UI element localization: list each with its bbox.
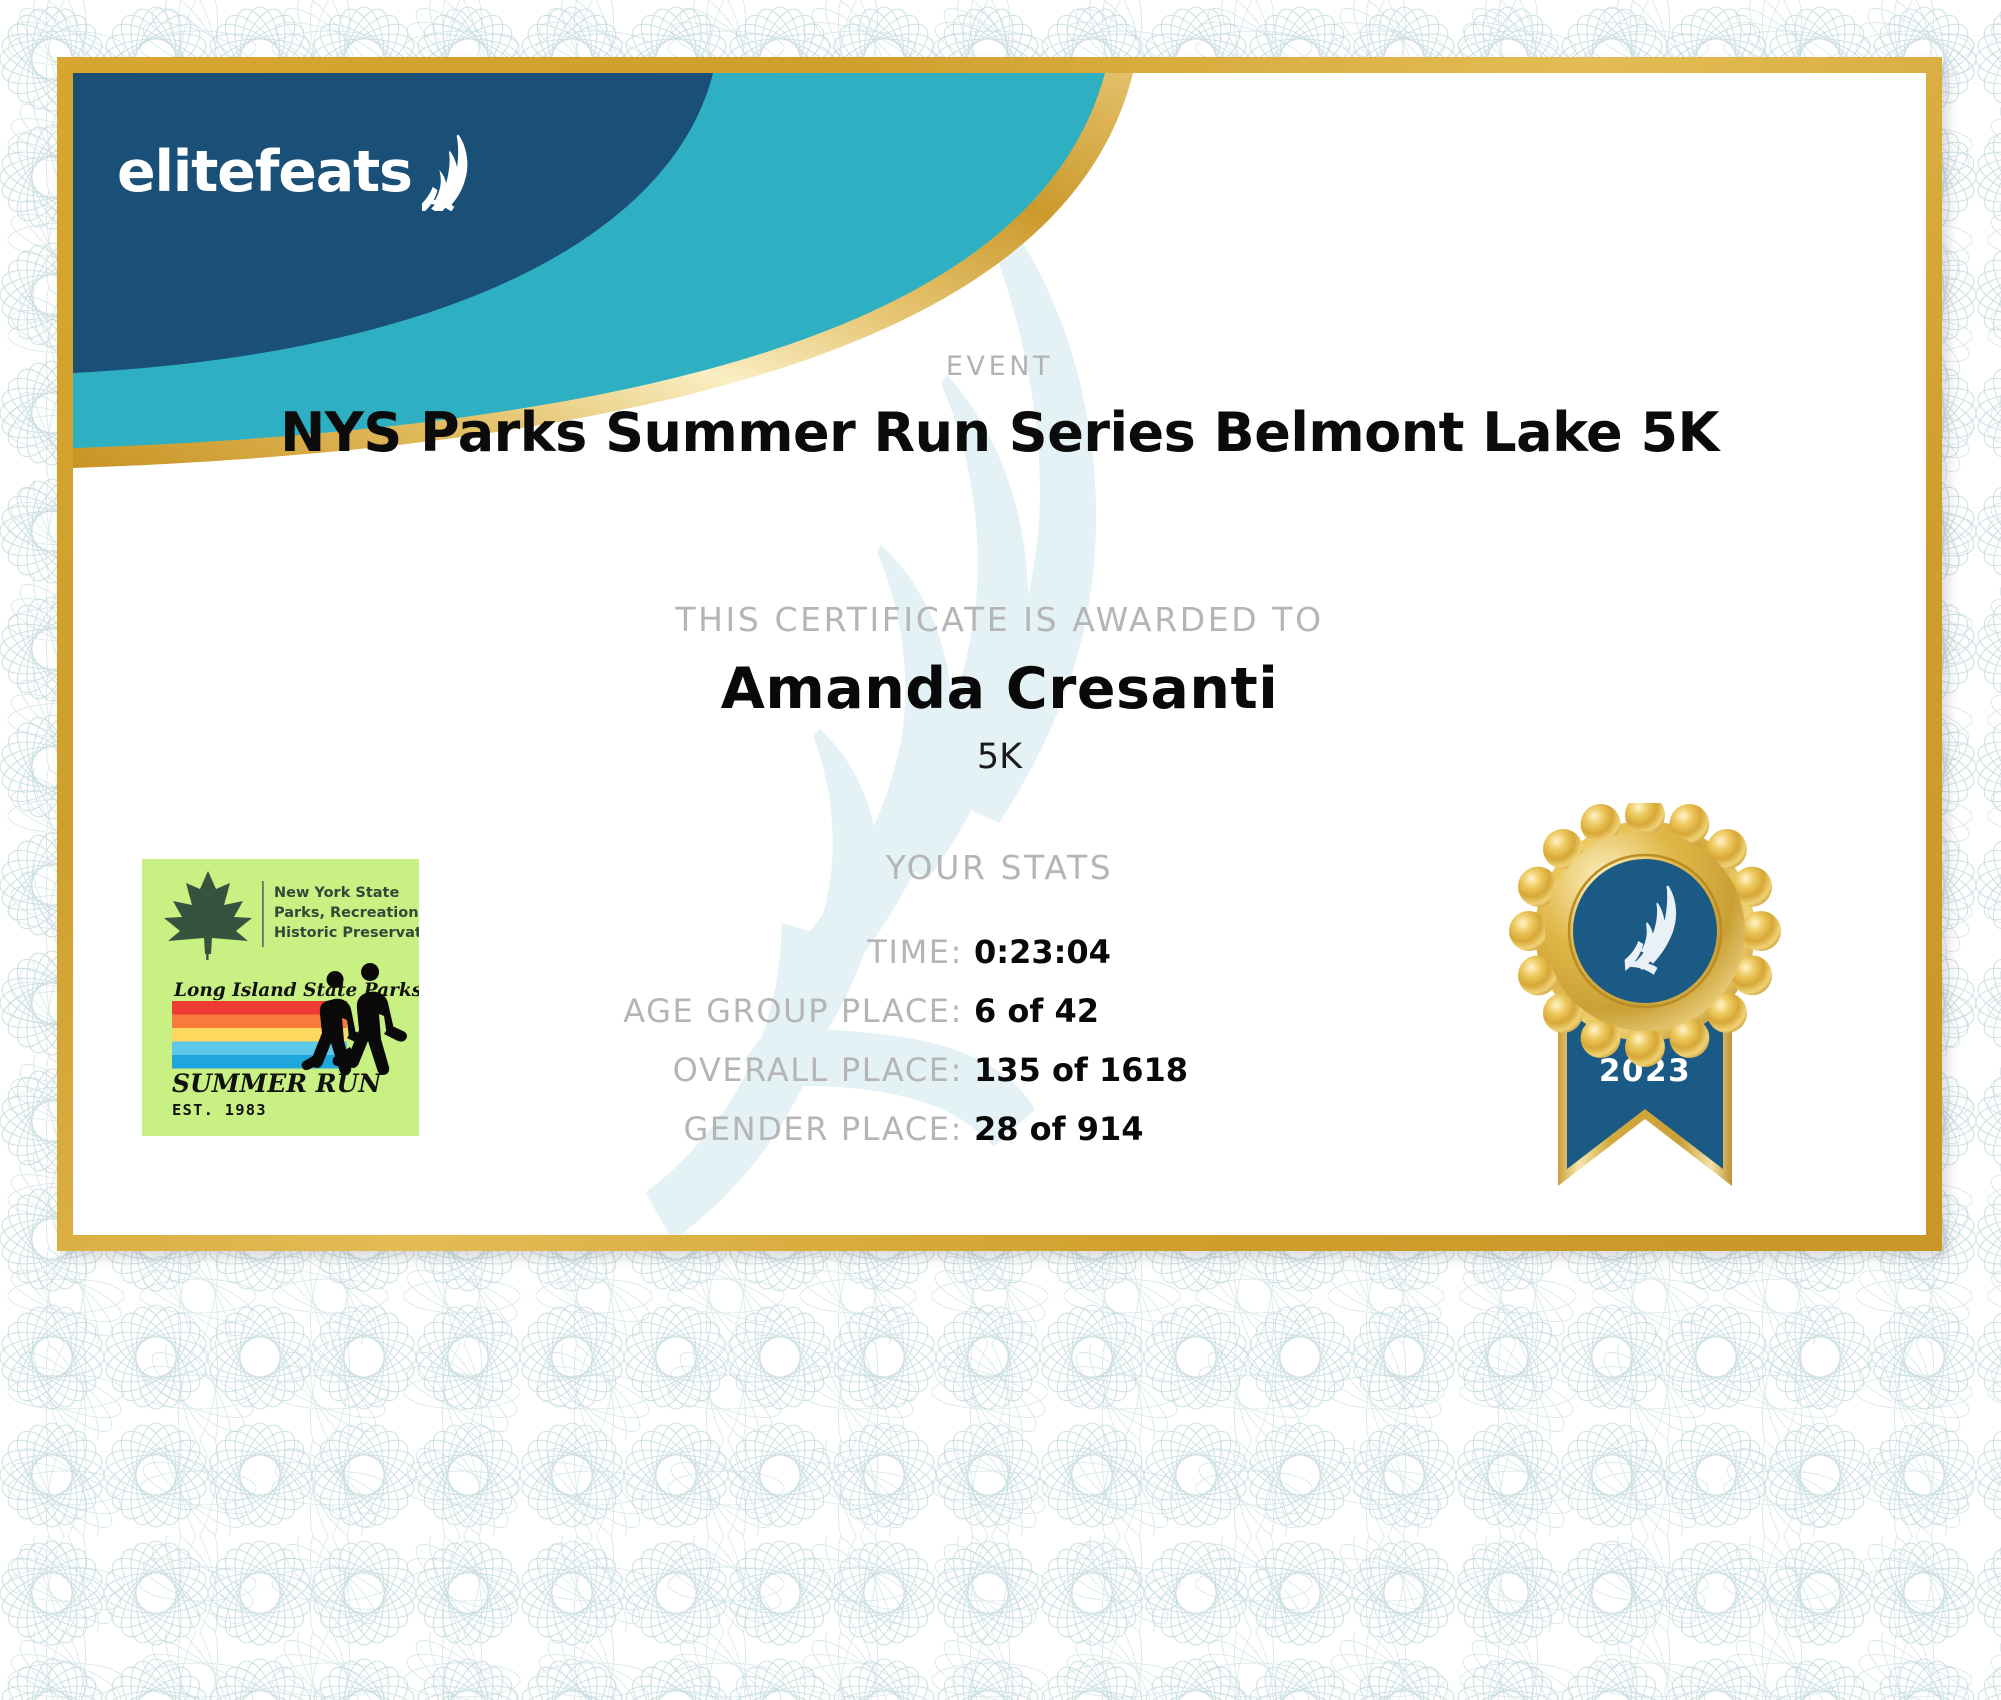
stat-value: 0:23:04 (974, 933, 1111, 971)
event-title: NYS Parks Summer Run Series Belmont Lake… (73, 401, 1926, 464)
sponsor-established: EST. 1983 (172, 1101, 267, 1119)
event-label: EVENT (73, 351, 1926, 382)
brand-name: elitefeats (117, 144, 412, 201)
finisher-medal: 2023 (1470, 803, 1820, 1235)
stat-value: 6 of 42 (974, 992, 1099, 1030)
elitefeats-logo: elitefeats (117, 133, 486, 211)
certificate-inner-panel: elitefeats EVENT NYS Parks Summer Run Se… (73, 73, 1926, 1235)
medal-rosette-icon: 2023 (1470, 803, 1820, 1233)
stat-value: 28 of 914 (974, 1110, 1144, 1148)
awarded-to-label: THIS CERTIFICATE IS AWARDED TO (73, 600, 1926, 639)
sponsor-agency-line3: Historic Preservation (274, 925, 419, 941)
sponsor-agency-line1: New York State (274, 885, 399, 901)
winged-foot-icon (414, 133, 486, 211)
certificate-content: EVENT NYS Parks Summer Run Series Belmon… (73, 73, 1926, 1235)
sponsor-series-title: SUMMER RUN (172, 1069, 382, 1098)
stat-value: 135 of 1618 (974, 1051, 1188, 1089)
sponsor-agency-line2: Parks, Recreation and (274, 905, 419, 921)
recipient-distance: 5K (73, 737, 1926, 777)
certificate-gold-frame: elitefeats EVENT NYS Parks Summer Run Se… (57, 57, 1942, 1251)
certificate-page: elitefeats EVENT NYS Parks Summer Run Se… (0, 0, 2001, 1700)
recipient-name: Amanda Cresanti (73, 656, 1926, 722)
sponsor-logo-nys-parks: New York State Parks, Recreation and His… (142, 859, 419, 1136)
